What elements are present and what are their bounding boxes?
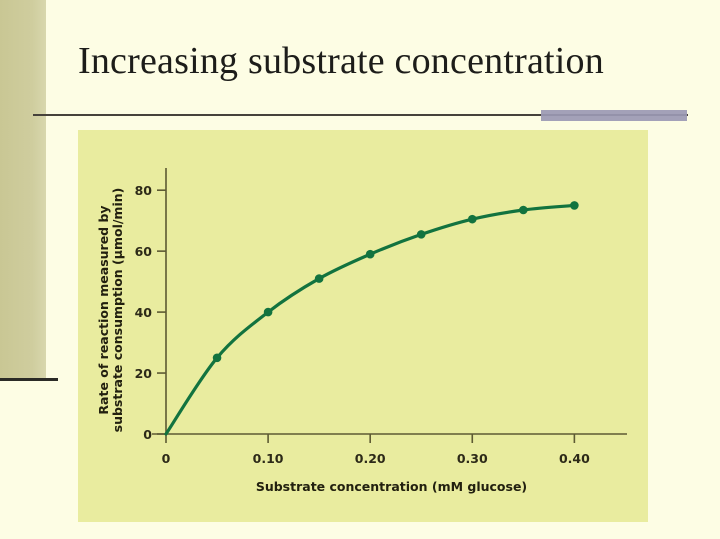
data-point-marker (315, 274, 324, 283)
x-tick-label: 0.10 (253, 451, 284, 466)
y-tick-label: 40 (135, 305, 153, 320)
series-line (166, 205, 574, 434)
x-axis-title: Substrate concentration (mM glucose) (256, 479, 527, 494)
title-divider-accent (541, 110, 687, 121)
y-axis-title-line1: Rate of reaction measured by (96, 205, 111, 414)
data-point-marker (264, 308, 273, 317)
x-tick-label: 0 (162, 451, 171, 466)
x-tick-label: 0.20 (355, 451, 386, 466)
data-point-marker (519, 206, 528, 215)
y-axis-title: Rate of reaction measured bysubstrate co… (96, 188, 125, 433)
saturation-curve-chart: 02040608000.100.200.300.40Substrate conc… (78, 130, 648, 522)
data-point-marker (570, 201, 579, 210)
x-tick-label: 0.40 (559, 451, 590, 466)
y-tick-label: 60 (135, 244, 153, 259)
y-axis-title-line2: substrate consumption (µmol/min) (110, 188, 125, 433)
sidebar-decoration (0, 0, 46, 380)
y-tick-label: 80 (135, 183, 153, 198)
page-title: Increasing substrate concentration (78, 38, 698, 84)
data-point-marker (366, 250, 375, 259)
y-tick-label: 0 (143, 427, 152, 442)
sidebar-rule (0, 378, 58, 381)
slide: Increasing substrate concentration 02040… (0, 0, 720, 539)
x-tick-label: 0.30 (457, 451, 488, 466)
y-tick-label: 20 (135, 366, 153, 381)
chart-panel: 02040608000.100.200.300.40Substrate conc… (78, 130, 648, 522)
data-point-marker (468, 215, 477, 224)
data-point-marker (213, 354, 222, 363)
data-point-marker (417, 230, 426, 239)
